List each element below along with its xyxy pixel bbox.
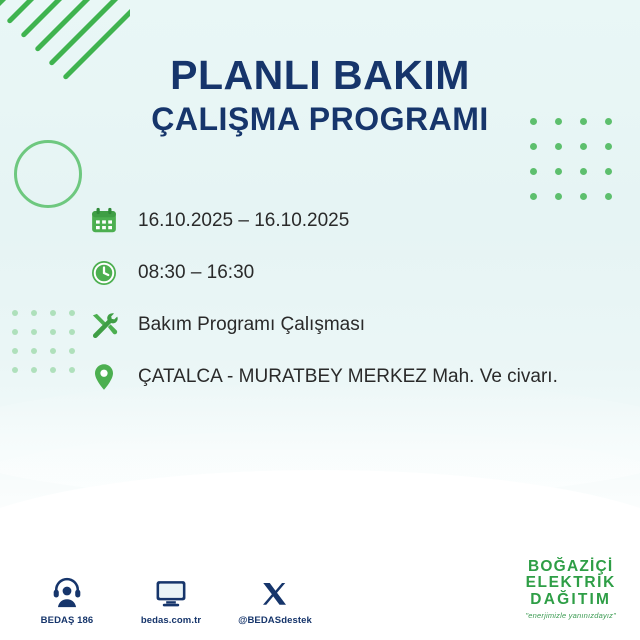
info-text-work-type: Bakım Programı Çalışması — [138, 314, 365, 336]
footer-item-social[interactable]: @BEDASdestek — [236, 574, 314, 626]
planned-maintenance-poster: PLANLI BAKIM ÇALIŞMA PROGRAMI 16.10 — [0, 0, 640, 640]
tools-icon — [84, 310, 124, 341]
footer-item-phone[interactable]: BEDAŞ 186 — [28, 574, 106, 626]
info-row-location: ÇATALCA - MURATBEY MERKEZ Mah. Ve civarı… — [84, 353, 604, 401]
calendar-icon — [84, 206, 124, 236]
info-text-date: 16.10.2025 – 16.10.2025 — [138, 210, 349, 232]
info-text-time: 08:30 – 16:30 — [138, 262, 254, 284]
headset-agent-icon — [28, 574, 106, 610]
info-text-location: ÇATALCA - MURATBEY MERKEZ Mah. Ve civarı… — [138, 366, 558, 388]
info-row-time: 08:30 – 16:30 — [84, 249, 604, 297]
title-line-2: ÇALIŞMA PROGRAMI — [0, 101, 640, 138]
poster-title: PLANLI BAKIM ÇALIŞMA PROGRAMI — [0, 54, 640, 138]
brand-line-2: ELEKTRİK — [525, 575, 616, 592]
footer-contact-items: BEDAŞ 186 bedas.com.tr — [28, 574, 314, 626]
footer-label-social: @BEDASdestek — [236, 615, 314, 626]
poster-footer: BEDAŞ 186 bedas.com.tr — [0, 530, 640, 640]
info-row-work-type: Bakım Programı Çalışması — [84, 301, 604, 349]
footer-label-website: bedas.com.tr — [132, 615, 210, 626]
dot-grid-left-decoration — [12, 310, 75, 373]
location-pin-icon — [84, 362, 124, 392]
footer-label-phone: BEDAŞ 186 — [28, 615, 106, 626]
brand-line-1: BOĞAZİÇİ — [525, 559, 616, 576]
brand-slogan: "enerjimizle yanınızdayız" — [525, 612, 616, 620]
brand-line-3: DAĞITIM — [525, 592, 616, 609]
info-list: 16.10.2025 – 16.10.2025 08:30 – 16:30 — [84, 197, 604, 405]
clock-icon — [84, 258, 124, 288]
monitor-icon — [132, 574, 210, 610]
footer-item-website[interactable]: bedas.com.tr — [132, 574, 210, 626]
x-social-icon — [236, 574, 314, 610]
info-row-date: 16.10.2025 – 16.10.2025 — [84, 197, 604, 245]
title-line-1: PLANLI BAKIM — [0, 54, 640, 97]
circle-outline-decoration — [14, 140, 82, 208]
brand-logo: BOĞAZİÇİ ELEKTRİK DAĞITIM "enerjimizle y… — [525, 559, 616, 620]
